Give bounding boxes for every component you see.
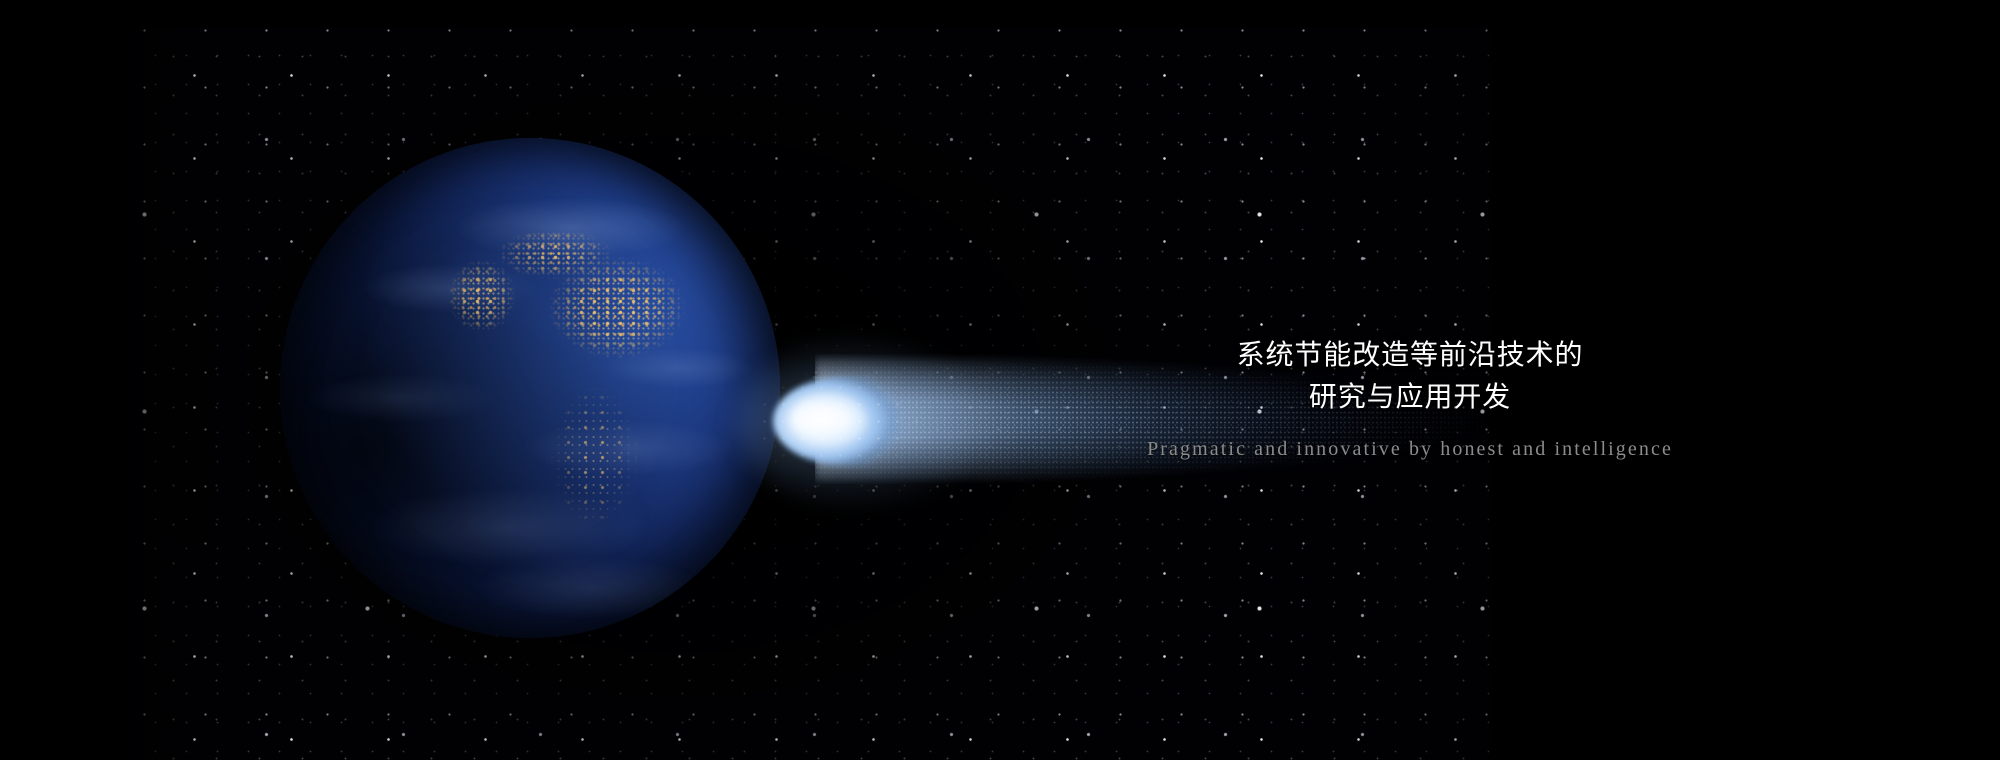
city-lights-south-america (540, 388, 670, 558)
headline-line-1: 系统节能改造等前沿技术的 (940, 334, 1880, 376)
headline-line-2: 研究与应用开发 (940, 376, 1880, 418)
tagline: Pragmatic and innovative by honest and i… (940, 436, 1880, 462)
landmass-texture (280, 138, 780, 638)
earth-night-globe (280, 73, 790, 733)
city-lights-north-america (430, 218, 690, 368)
banner-copy: 系统节能改造等前沿技术的 研究与应用开发 Pragmatic and innov… (940, 334, 1880, 462)
hero-banner: 系统节能改造等前沿技术的 研究与应用开发 Pragmatic and innov… (0, 0, 2000, 760)
globe-sphere (280, 138, 780, 638)
